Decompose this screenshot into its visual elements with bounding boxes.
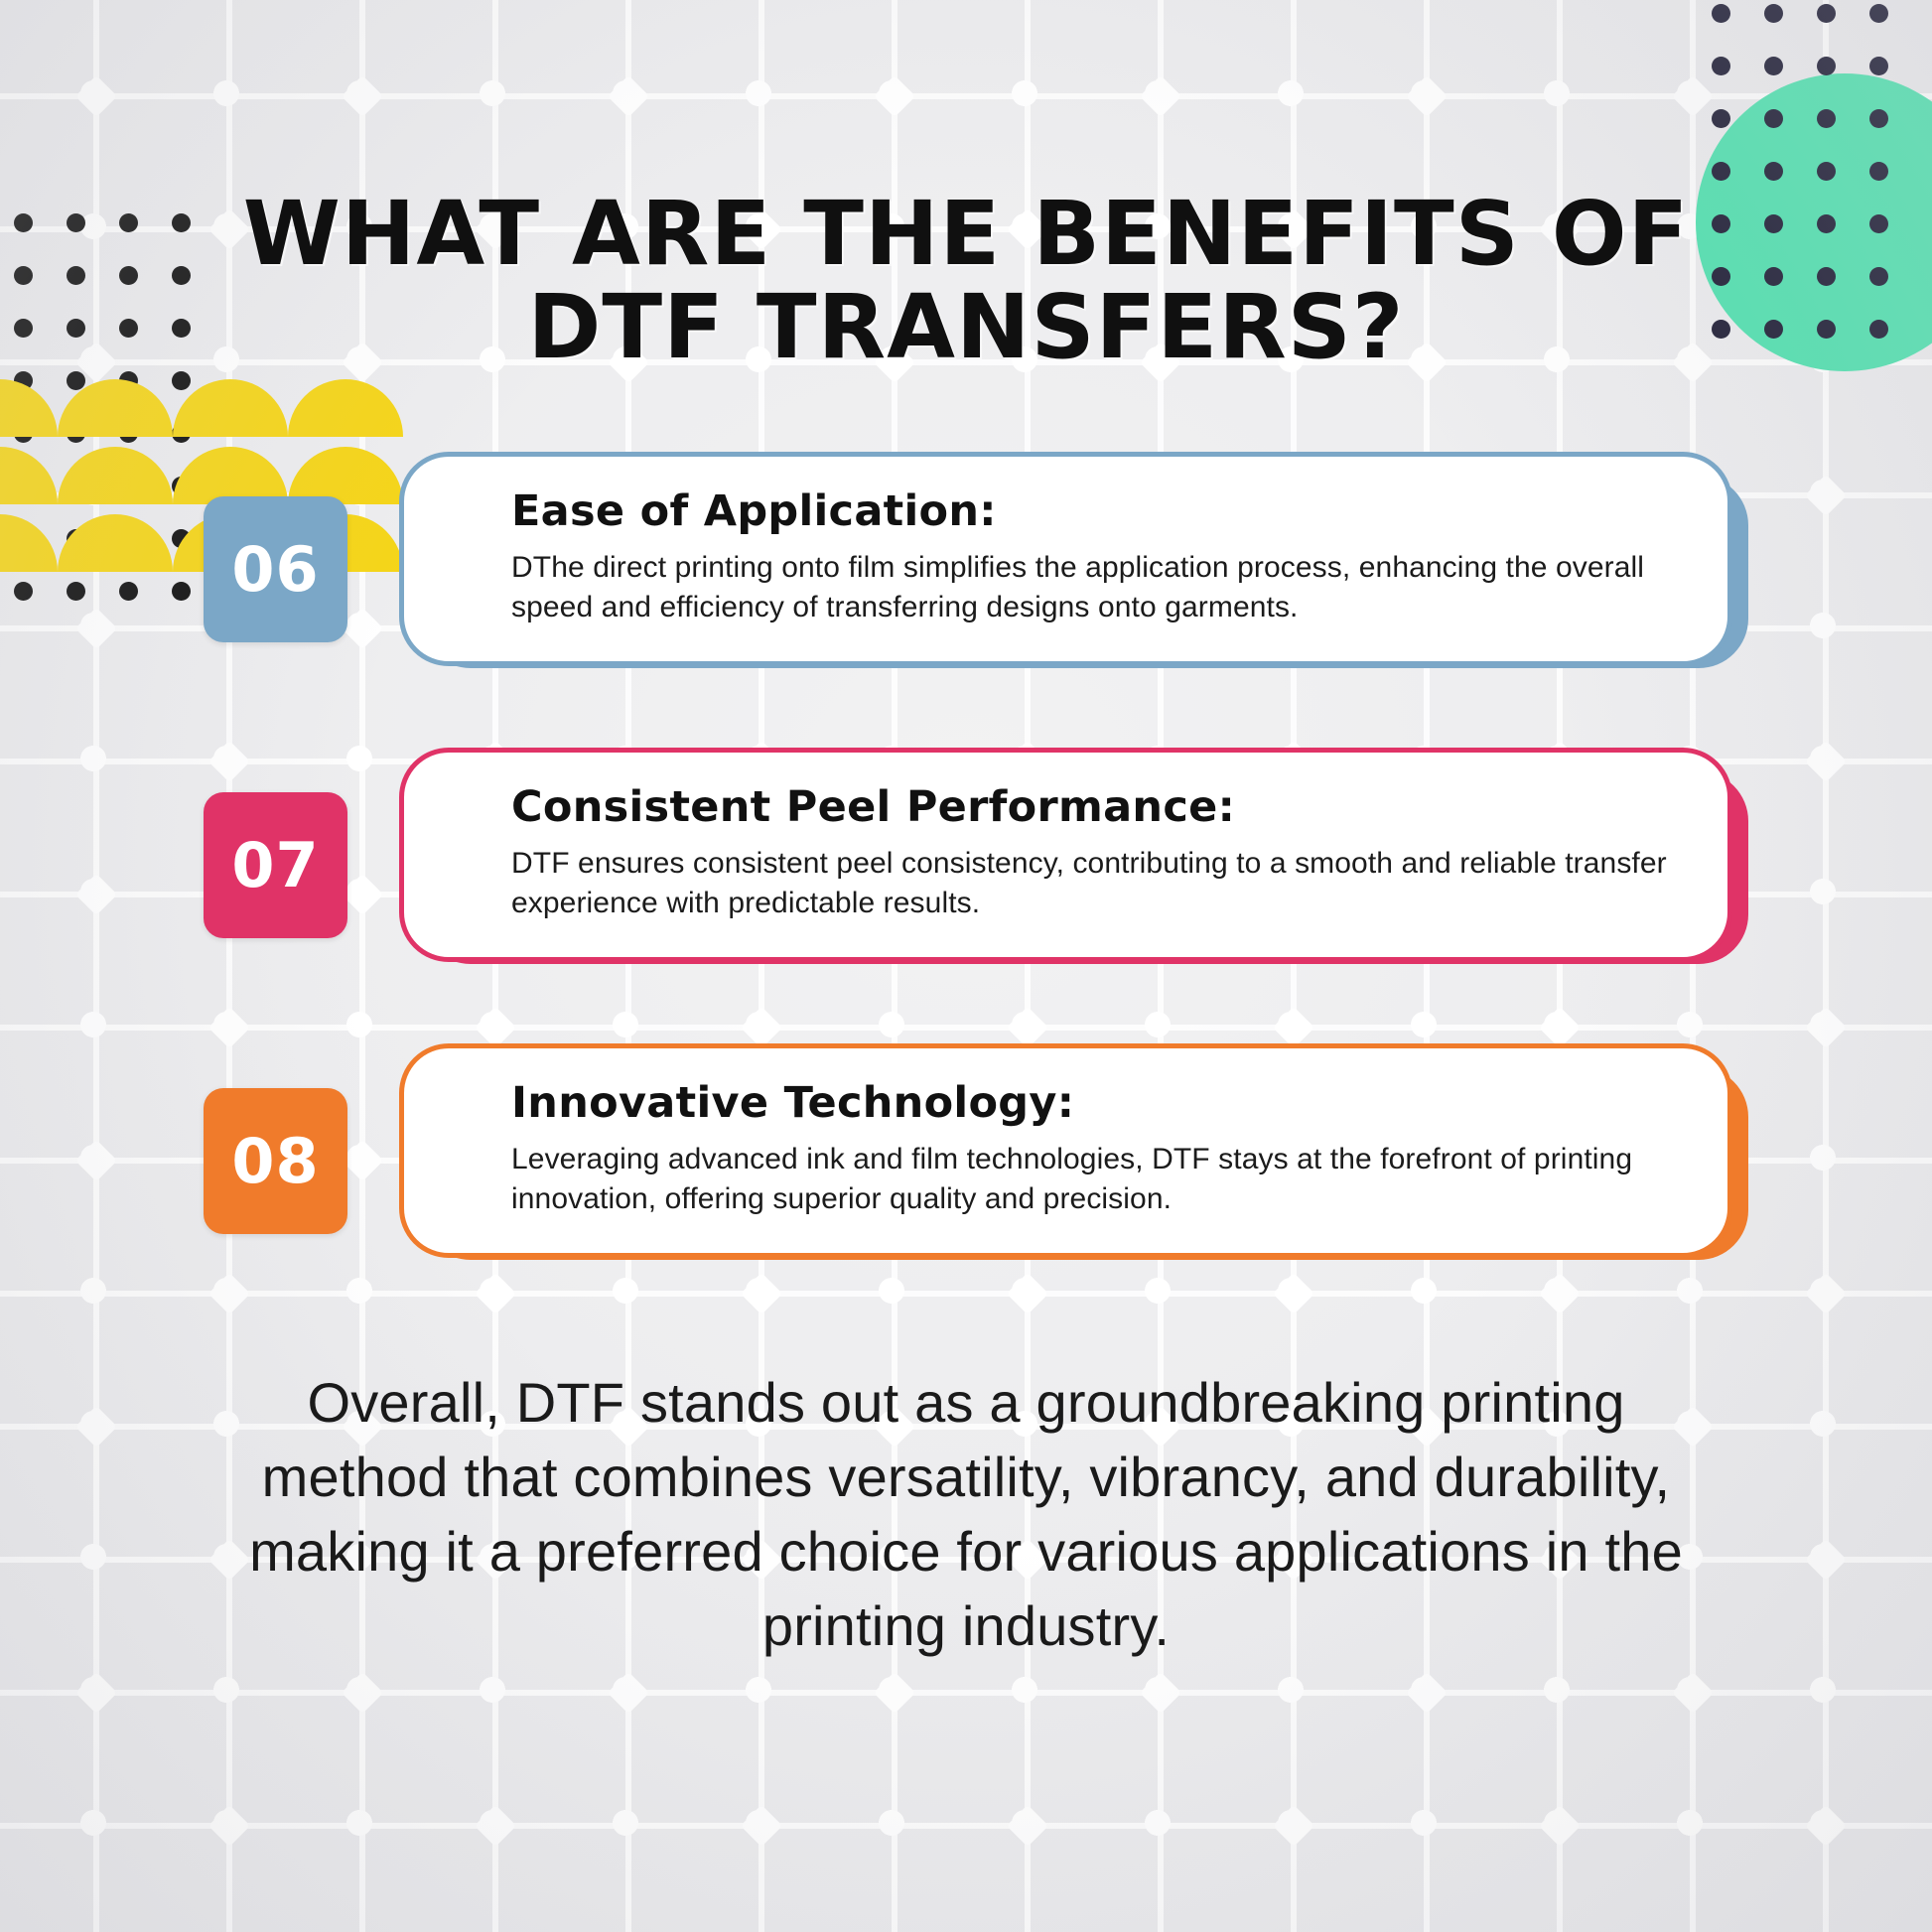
- step-number-badge-08: 08: [204, 1088, 347, 1234]
- grid-diamond: [741, 1805, 782, 1847]
- grid-diamond: [608, 1672, 649, 1714]
- benefit-card-wrapper: Innovative Technology:Leveraging advance…: [399, 1043, 1732, 1258]
- grid-diamond: [1805, 1007, 1847, 1048]
- decorative-dot: [67, 319, 85, 338]
- decorative-dot: [67, 266, 85, 285]
- grid-diamond: [1539, 1805, 1581, 1847]
- decorative-dot: [67, 477, 85, 495]
- decorative-dot: [119, 424, 138, 443]
- benefit-card-heading: Innovative Technology:: [511, 1078, 1684, 1128]
- decorative-dot: [14, 424, 33, 443]
- decorative-dot: [172, 213, 191, 232]
- grid-diamond: [874, 1672, 915, 1714]
- decorative-dot: [119, 477, 138, 495]
- decorative-dot: [1817, 4, 1836, 23]
- benefit-card-heading: Consistent Peel Performance:: [511, 782, 1684, 832]
- decorative-dot: [14, 213, 33, 232]
- decorative-dot: [119, 529, 138, 548]
- grid-diamond: [608, 75, 649, 117]
- grid-diamond: [75, 608, 117, 649]
- decorative-dot: [172, 582, 191, 601]
- decorative-dot: [14, 266, 33, 285]
- decorative-dot: [1712, 57, 1730, 75]
- decorative-dot: [172, 319, 191, 338]
- decorative-dot: [1712, 4, 1730, 23]
- summary-paragraph: Overall, DTF stands out as a groundbreak…: [213, 1365, 1719, 1663]
- benefit-card-row: 08Innovative Technology:Leveraging advan…: [204, 1043, 1732, 1307]
- decorative-semicircle: [58, 379, 173, 437]
- grid-diamond: [75, 874, 117, 915]
- benefit-card-row: 07Consistent Peel Performance:DTF ensure…: [204, 748, 1732, 1011]
- grid-diamond: [1672, 75, 1714, 117]
- grid-diamond: [75, 342, 117, 383]
- grid-diamond: [475, 1805, 516, 1847]
- decorative-dot: [119, 266, 138, 285]
- decorative-dot: [14, 371, 33, 390]
- decorative-semicircle: [173, 379, 288, 437]
- decorative-dot: [1712, 109, 1730, 128]
- benefit-card-row: 06Ease of Application:DThe direct printi…: [204, 452, 1732, 715]
- decorative-dot: [1817, 57, 1836, 75]
- decorative-dot: [1764, 4, 1783, 23]
- decorative-dot: [1764, 57, 1783, 75]
- decorative-dot: [14, 477, 33, 495]
- grid-diamond: [342, 1672, 383, 1714]
- decorative-dot: [67, 529, 85, 548]
- decorative-semicircle: [0, 514, 58, 572]
- grid-diamond: [75, 75, 117, 117]
- decorative-dot: [172, 477, 191, 495]
- decorative-dot: [67, 213, 85, 232]
- decorative-semicircle: [58, 447, 173, 504]
- decorative-dot: [1869, 57, 1888, 75]
- grid-diamond: [208, 1805, 250, 1847]
- grid-diamond: [1007, 1805, 1048, 1847]
- decorative-dot: [14, 582, 33, 601]
- left-dot-grid-decoration: [14, 213, 224, 634]
- decorative-dot: [119, 582, 138, 601]
- benefit-card-wrapper: Ease of Application:DThe direct printing…: [399, 452, 1732, 666]
- grid-diamond: [75, 1406, 117, 1448]
- decorative-dot: [67, 424, 85, 443]
- decorative-semicircle: [288, 379, 403, 437]
- decorative-dot: [119, 319, 138, 338]
- grid-diamond: [1406, 1672, 1448, 1714]
- infographic-canvas: WHAT ARE THE BENEFITS OF DTF TRANSFERS? …: [0, 0, 1932, 1932]
- decorative-dot: [1712, 320, 1730, 339]
- step-number-badge-07: 07: [204, 792, 347, 938]
- benefit-card-wrapper: Consistent Peel Performance:DTF ensures …: [399, 748, 1732, 962]
- benefit-card: Innovative Technology:Leveraging advance…: [399, 1043, 1732, 1258]
- decorative-dot: [1869, 4, 1888, 23]
- decorative-dot: [67, 371, 85, 390]
- benefit-card-body: DTF ensures consistent peel consistency,…: [511, 844, 1684, 923]
- decorative-dot: [14, 319, 33, 338]
- benefit-card: Ease of Application:DThe direct printing…: [399, 452, 1732, 666]
- grid-diamond: [75, 1672, 117, 1714]
- grid-diamond: [1672, 1672, 1714, 1714]
- decorative-semicircle: [0, 379, 58, 437]
- decorative-dot: [14, 529, 33, 548]
- grid-diamond: [874, 75, 915, 117]
- grid-diamond: [1805, 741, 1847, 782]
- benefit-card-body: Leveraging advanced ink and film technol…: [511, 1140, 1684, 1219]
- grid-diamond: [1805, 1273, 1847, 1314]
- decorative-dot: [67, 582, 85, 601]
- grid-diamond: [75, 1140, 117, 1181]
- grid-diamond: [1140, 75, 1181, 117]
- decorative-dot: [119, 371, 138, 390]
- decorative-semicircle: [58, 514, 173, 572]
- grid-diamond: [1805, 1805, 1847, 1847]
- grid-diamond: [1273, 1805, 1314, 1847]
- decorative-dot: [172, 371, 191, 390]
- decorative-dot: [172, 424, 191, 443]
- decorative-semicircle: [0, 447, 58, 504]
- benefit-card-body: DThe direct printing onto film simplifie…: [511, 548, 1684, 627]
- benefit-card: Consistent Peel Performance:DTF ensures …: [399, 748, 1732, 962]
- step-number-badge-06: 06: [204, 496, 347, 642]
- benefit-card-heading: Ease of Application:: [511, 486, 1684, 536]
- grid-diamond: [1805, 1539, 1847, 1581]
- grid-diamond: [1140, 1672, 1181, 1714]
- grid-diamond: [1406, 75, 1448, 117]
- decorative-dot: [119, 213, 138, 232]
- mint-circle-decoration: [1696, 73, 1932, 371]
- page-title: WHAT ARE THE BENEFITS OF DTF TRANSFERS?: [238, 187, 1694, 374]
- grid-diamond: [1805, 475, 1847, 516]
- benefit-card-list: 06Ease of Application:DThe direct printi…: [204, 452, 1732, 1339]
- decorative-dot: [172, 266, 191, 285]
- decorative-dot: [172, 529, 191, 548]
- grid-diamond: [342, 75, 383, 117]
